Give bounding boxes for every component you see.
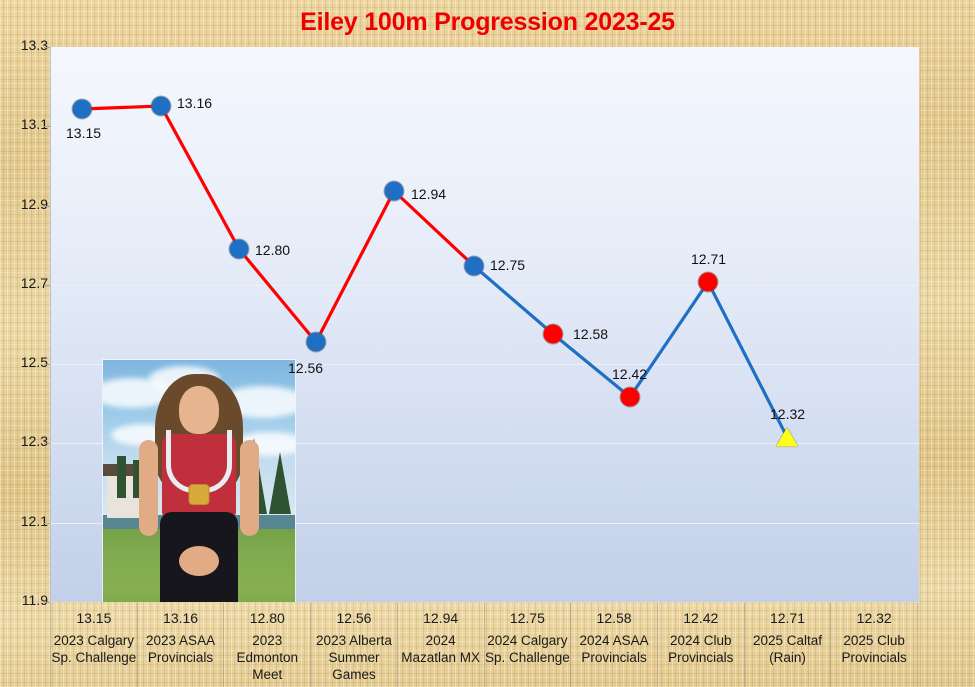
- x-axis-column: 12.582024 ASAAProvincials: [571, 603, 658, 687]
- data-point-label: 12.56: [288, 360, 323, 376]
- y-axis-tick-label: 12.9: [0, 196, 48, 212]
- x-axis-table: 13.152023 CalgarySp. Challenge13.162023 …: [50, 603, 918, 687]
- x-axis-column: 13.152023 CalgarySp. Challenge: [50, 603, 138, 687]
- data-point-marker[interactable]: [776, 428, 798, 447]
- x-axis-category-label: 2025 Caltaf(Rain): [753, 632, 822, 666]
- data-point-marker[interactable]: [621, 388, 640, 407]
- x-axis-column: 12.942024Mazatlan MX: [398, 603, 485, 687]
- data-point-marker[interactable]: [699, 273, 718, 292]
- x-axis-category-label: 2024Mazatlan MX: [401, 632, 480, 666]
- data-point-marker[interactable]: [544, 325, 563, 344]
- data-point-marker[interactable]: [152, 97, 171, 116]
- y-axis-tick-label: 13.3: [0, 37, 48, 53]
- chart-title: Eiley 100m Progression 2023-25: [0, 8, 975, 37]
- y-axis-tick-label: 12.1: [0, 513, 48, 529]
- x-axis-value: 12.32: [857, 608, 892, 628]
- x-axis-value: 12.94: [423, 608, 458, 628]
- data-point-marker[interactable]: [307, 333, 326, 352]
- line-segment: [316, 191, 394, 342]
- x-axis-value: 12.58: [597, 608, 632, 628]
- x-axis-value: 12.75: [510, 608, 545, 628]
- data-point-label: 12.80: [255, 242, 290, 258]
- data-point-marker[interactable]: [73, 100, 92, 119]
- x-axis-column: 12.322025 ClubProvincials: [831, 603, 918, 687]
- data-point-label: 13.16: [177, 95, 212, 111]
- x-axis-value: 12.56: [336, 608, 371, 628]
- x-axis-category-label: 2024 CalgarySp. Challenge: [485, 632, 570, 666]
- data-point-label: 12.71: [691, 251, 726, 267]
- data-point-label: 12.58: [573, 326, 608, 342]
- line-segment: [474, 266, 553, 334]
- line-segment: [239, 249, 316, 342]
- x-axis-category-label: 2023EdmontonMeet: [236, 632, 298, 683]
- data-point-marker[interactable]: [385, 182, 404, 201]
- x-axis-value: 12.80: [250, 608, 285, 628]
- data-point-marker[interactable]: [230, 240, 249, 259]
- x-axis-value: 12.42: [683, 608, 718, 628]
- data-point-label: 13.15: [66, 125, 101, 141]
- data-point-label: 12.42: [612, 366, 647, 382]
- x-axis-column: 12.752024 CalgarySp. Challenge: [485, 603, 572, 687]
- y-axis-tick-label: 12.5: [0, 354, 48, 370]
- data-point-marker[interactable]: [465, 257, 484, 276]
- line-segment: [82, 106, 161, 109]
- x-axis-category-label: 2024 ClubProvincials: [668, 632, 733, 666]
- x-axis-column: 12.712025 Caltaf(Rain): [745, 603, 832, 687]
- series-lines: [51, 47, 919, 602]
- x-axis-value: 13.16: [163, 608, 198, 628]
- y-axis-tick-label: 11.9: [0, 592, 48, 608]
- x-axis-column: 13.162023 ASAAProvincials: [138, 603, 225, 687]
- y-axis-tick-label: 13.1: [0, 116, 48, 132]
- line-segment: [394, 191, 474, 266]
- line-segment: [161, 106, 239, 249]
- data-point-label: 12.75: [490, 257, 525, 273]
- x-axis-category-label: 2023 ASAAProvincials: [146, 632, 215, 666]
- x-axis-category-label: 2023 AlbertaSummerGames: [316, 632, 392, 683]
- x-axis-value: 12.71: [770, 608, 805, 628]
- x-axis-column: 12.562023 AlbertaSummerGames: [311, 603, 398, 687]
- x-axis-column: 12.802023EdmontonMeet: [224, 603, 311, 687]
- x-axis-category-label: 2023 CalgarySp. Challenge: [51, 632, 136, 666]
- plot-area: 13.1513.1612.8012.5612.9412.7512.5812.42…: [50, 47, 919, 602]
- x-axis-category-label: 2025 ClubProvincials: [842, 632, 907, 666]
- x-axis-category-label: 2024 ASAAProvincials: [580, 632, 649, 666]
- x-axis-value: 13.15: [76, 608, 111, 628]
- data-point-label: 12.94: [411, 186, 446, 202]
- x-axis-column: 12.422024 ClubProvincials: [658, 603, 745, 687]
- y-axis-tick-label: 12.7: [0, 275, 48, 291]
- y-axis-tick-label: 12.3: [0, 433, 48, 449]
- data-point-label: 12.32: [770, 406, 805, 422]
